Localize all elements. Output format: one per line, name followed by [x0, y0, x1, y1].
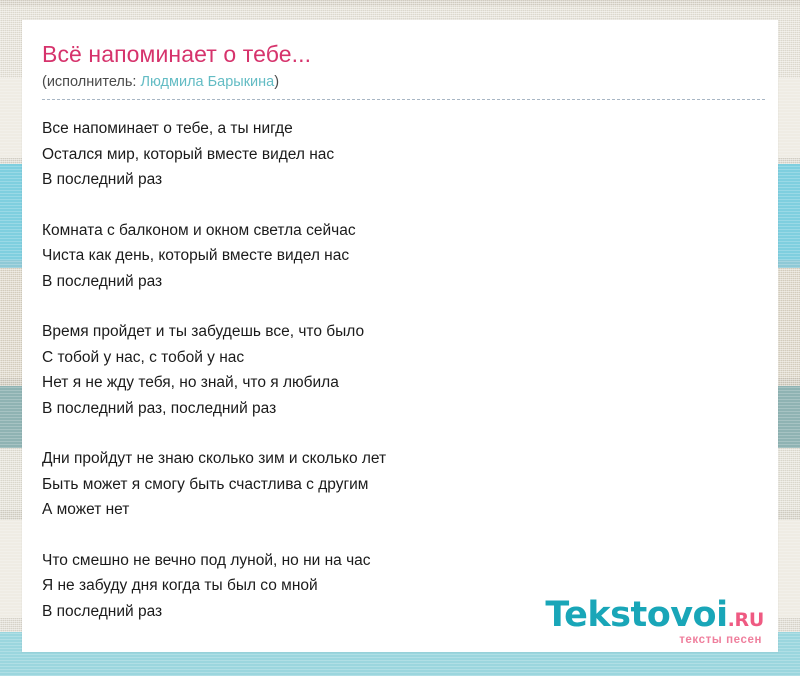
lyrics-body: Все напоминает о тебе, а ты нигдеОстался… [42, 116, 764, 624]
lyrics-stanza: Все напоминает о тебе, а ты нигдеОстался… [42, 116, 764, 193]
logo-wordmark: Tekstovoi.RU [545, 597, 764, 638]
lyrics-line: В последний раз [42, 167, 764, 193]
lyrics-line: Остался мир, который вместе видел нас [42, 142, 764, 168]
logo-tld-text: .RU [728, 609, 764, 631]
lyrics-line: А может нет [42, 497, 764, 523]
header-divider [42, 99, 765, 100]
artist-line: (исполнитель: Людмила Барыкина) [42, 73, 764, 91]
logo-name-text: Tekstovoi [545, 595, 727, 635]
lyrics-stanza: Время пройдет и ты забудешь все, что был… [42, 319, 764, 421]
lyrics-stanza: Дни пройдут не знаю сколько зим и скольк… [42, 446, 764, 523]
page-title: Всё напоминает о тебе... [42, 41, 764, 67]
card-inner-content: Всё напоминает о тебе... (исполнитель: Л… [42, 41, 764, 624]
site-logo[interactable]: Tekstovoi.RU тексты песен [545, 597, 764, 646]
lyrics-line: Чиста как день, который вместе видел нас [42, 243, 764, 269]
lyrics-line: Нет я не жду тебя, но знай, что я любила [42, 370, 764, 396]
artist-suffix-label: ) [274, 74, 279, 90]
lyrics-line: В последний раз, последний раз [42, 396, 764, 422]
lyrics-line: Все напоминает о тебе, а ты нигде [42, 116, 764, 142]
lyrics-line: Что смешно не вечно под луной, но ни на … [42, 548, 764, 574]
lyrics-stanza: Комната с балконом и окном светла сейчас… [42, 218, 764, 295]
lyrics-content-card: Всё напоминает о тебе... (исполнитель: Л… [22, 20, 778, 652]
lyrics-line: С тобой у нас, с тобой у нас [42, 345, 764, 371]
artist-link[interactable]: Людмила Барыкина [140, 74, 274, 90]
lyrics-line: Комната с балконом и окном светла сейчас [42, 218, 764, 244]
artist-prefix-label: (исполнитель: [42, 74, 136, 90]
lyrics-line: Время пройдет и ты забудешь все, что был… [42, 319, 764, 345]
lyrics-line: Быть может я смогу быть счастлива с друг… [42, 472, 764, 498]
lyrics-line: В последний раз [42, 269, 764, 295]
lyrics-line: Дни пройдут не знаю сколько зим и скольк… [42, 446, 764, 472]
